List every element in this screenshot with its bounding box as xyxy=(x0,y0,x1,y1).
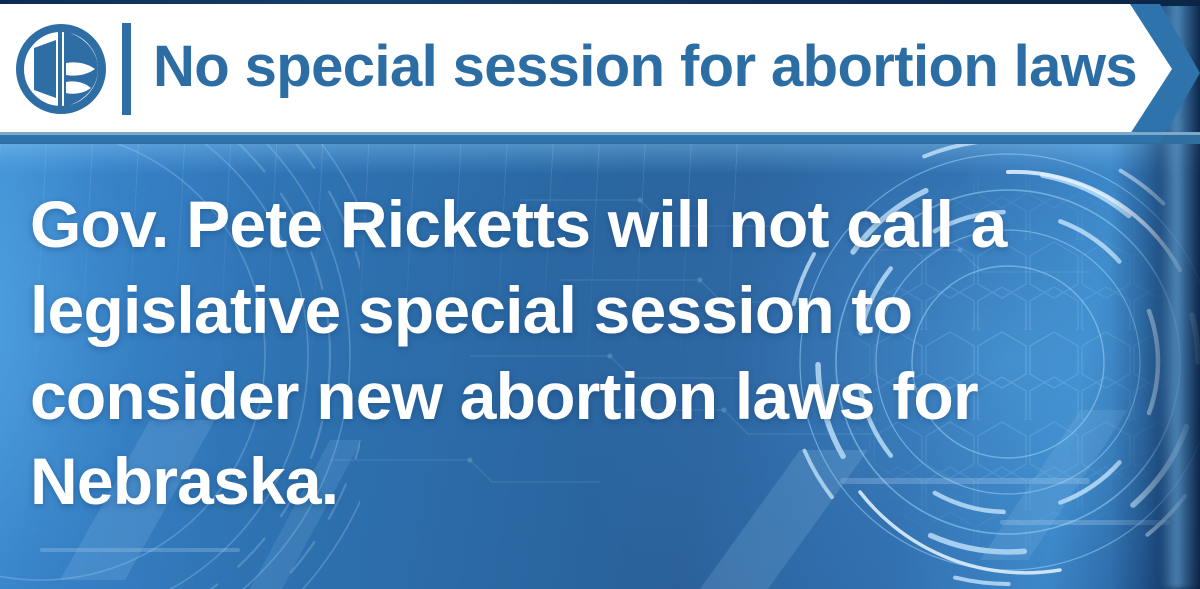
news-graphic-card: No special session for abortion laws Gov… xyxy=(0,0,1200,589)
headline-line-2: legislative special session to xyxy=(30,268,1110,354)
banner: No special session for abortion laws xyxy=(0,4,1200,134)
headline-line-4: Nebraska. xyxy=(30,439,1110,525)
headline-line-1: Gov. Pete Ricketts will not call a xyxy=(30,182,1110,268)
headline: Gov. Pete Ricketts will not call a legis… xyxy=(30,182,1110,525)
banner-divider xyxy=(122,23,131,115)
banner-title: No special session for abortion laws xyxy=(153,38,1137,96)
omaha-world-herald-logo-icon[interactable] xyxy=(12,20,110,118)
headline-line-3: consider new abortion laws for xyxy=(30,354,1110,440)
